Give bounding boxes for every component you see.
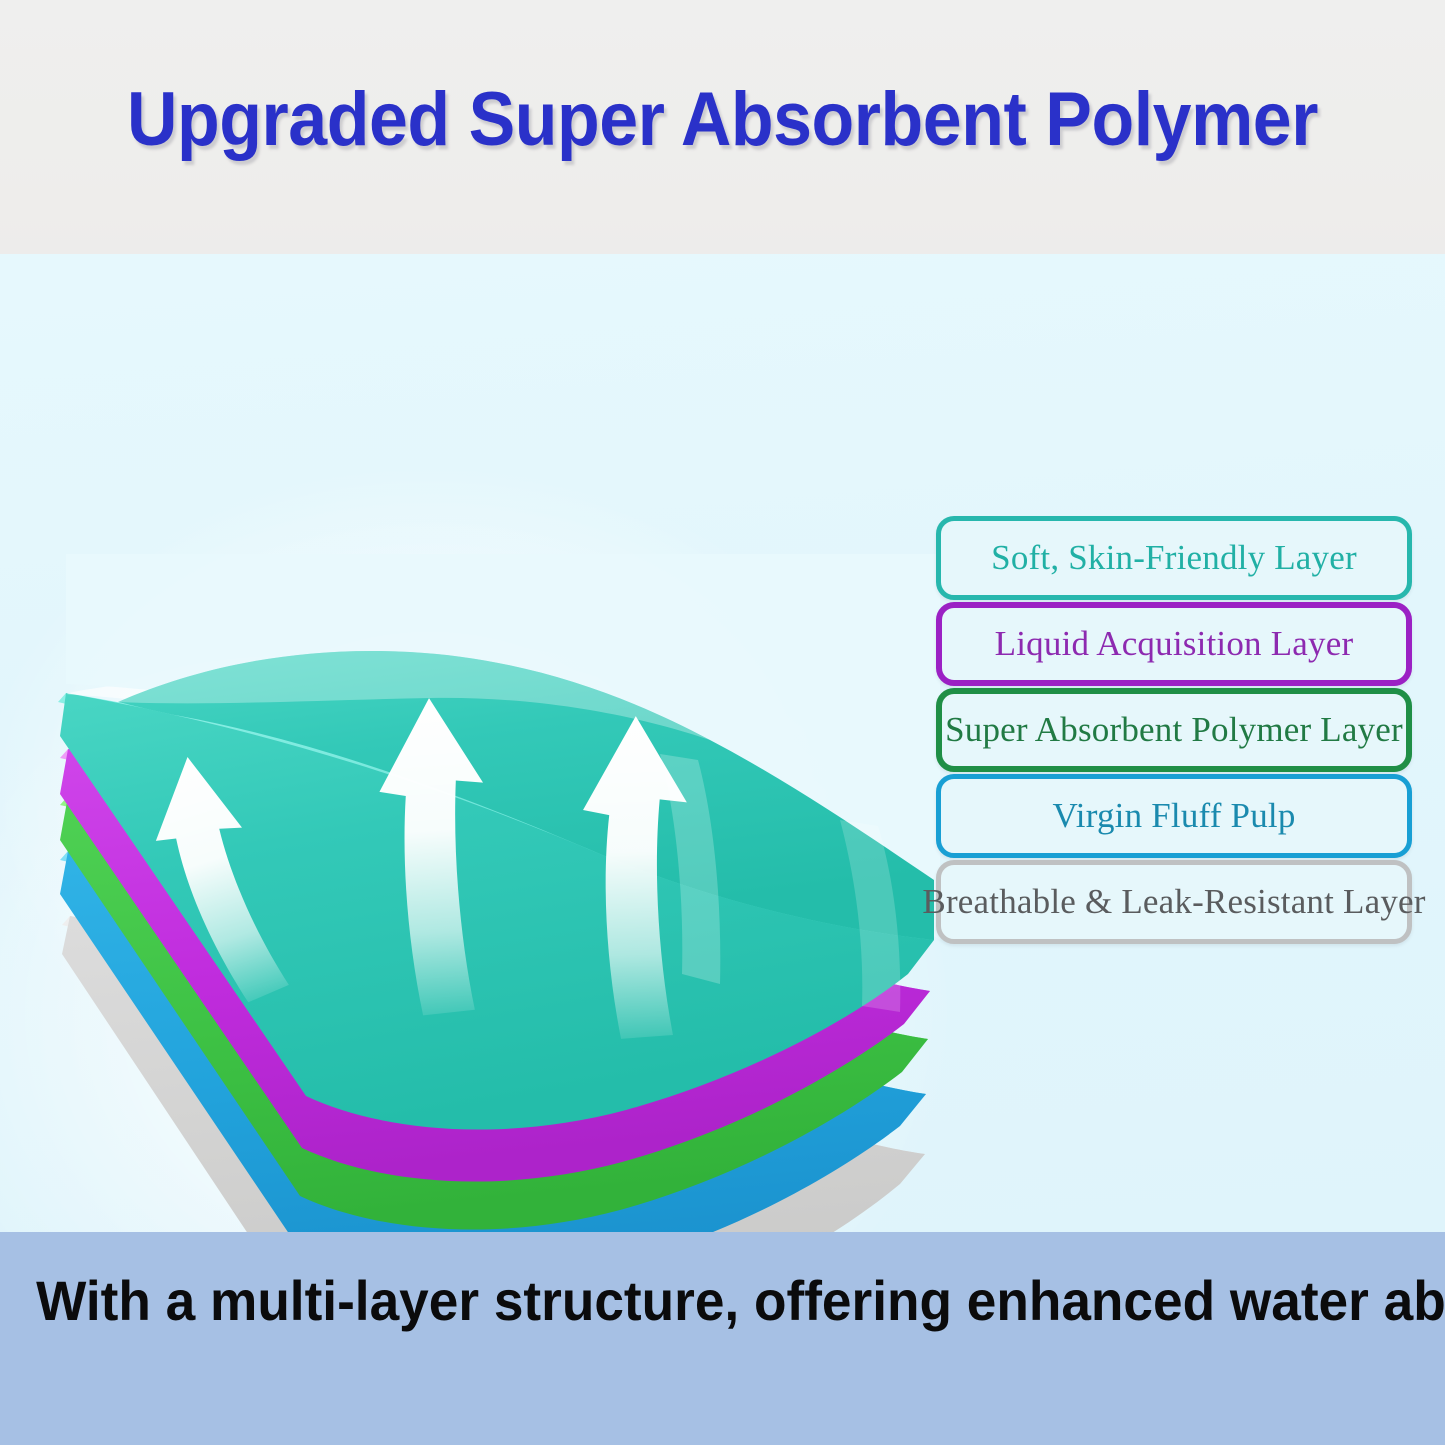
footer-caption: With a multi-layer structure, offering e… <box>36 1268 1409 1334</box>
layer-label-super-absorbent-polymer[interactable]: Super Absorbent Polymer Layer <box>936 688 1412 772</box>
layer-diagram: Soft, Skin-Friendly Layer Liquid Acquisi… <box>0 254 1445 1232</box>
layer-label-text: Virgin Fluff Pulp <box>1052 796 1295 836</box>
layer-label-list: Soft, Skin-Friendly Layer Liquid Acquisi… <box>936 516 1414 956</box>
layer-label-liquid-acquisition[interactable]: Liquid Acquisition Layer <box>936 602 1412 686</box>
page-title: Upgraded Super Absorbent Polymer <box>58 74 1387 166</box>
layer-label-text: Super Absorbent Polymer Layer <box>945 710 1403 750</box>
layer-label-breathable-leak-resistant[interactable]: Breathable & Leak-Resistant Layer <box>936 860 1412 944</box>
layer-label-text: Breathable & Leak-Resistant Layer <box>922 882 1425 922</box>
footer-banner: With a multi-layer structure, offering e… <box>0 1232 1445 1445</box>
layer-label-virgin-fluff-pulp[interactable]: Virgin Fluff Pulp <box>936 774 1412 858</box>
infographic-page: Upgraded Super Absorbent Polymer <box>0 0 1445 1445</box>
layer-label-soft-skin-friendly[interactable]: Soft, Skin-Friendly Layer <box>936 516 1412 600</box>
header-banner: Upgraded Super Absorbent Polymer <box>0 0 1445 254</box>
layer-label-text: Liquid Acquisition Layer <box>995 624 1354 664</box>
layer-label-text: Soft, Skin-Friendly Layer <box>991 538 1357 578</box>
